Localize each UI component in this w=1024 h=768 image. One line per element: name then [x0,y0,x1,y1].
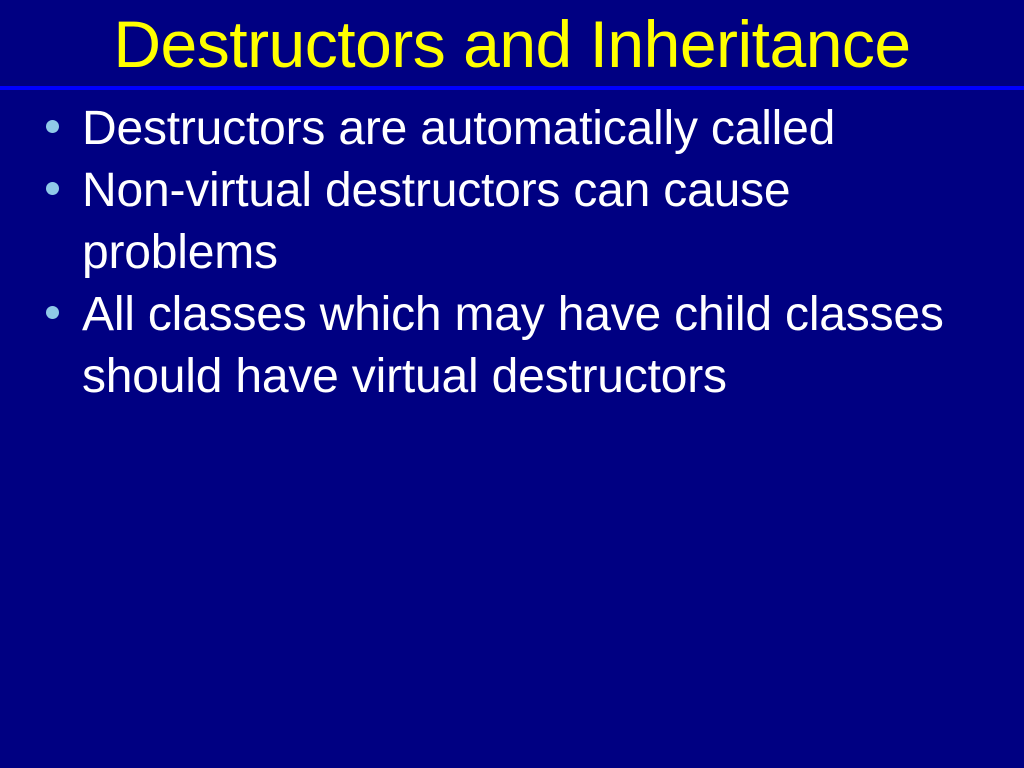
bullet-list: Destructors are automatically called Non… [0,98,1024,408]
list-item-label: Destructors are automatically called [82,98,992,160]
presentation-slide: Destructors and Inheritance Destructors … [0,0,1024,768]
bullet-dot-icon [46,182,59,195]
list-item-label: Non-virtual destructors can cause proble… [82,160,992,284]
page-title: Destructors and Inheritance [0,6,1024,82]
title-divider [0,86,1024,90]
bullet-dot-icon [46,120,59,133]
bullet-dot-icon [46,306,59,319]
list-item-label: All classes which may have child classes… [82,284,992,408]
list-item: Destructors are automatically called [0,98,1024,160]
list-item: All classes which may have child classes… [0,284,1024,408]
list-item: Non-virtual destructors can cause proble… [0,160,1024,284]
